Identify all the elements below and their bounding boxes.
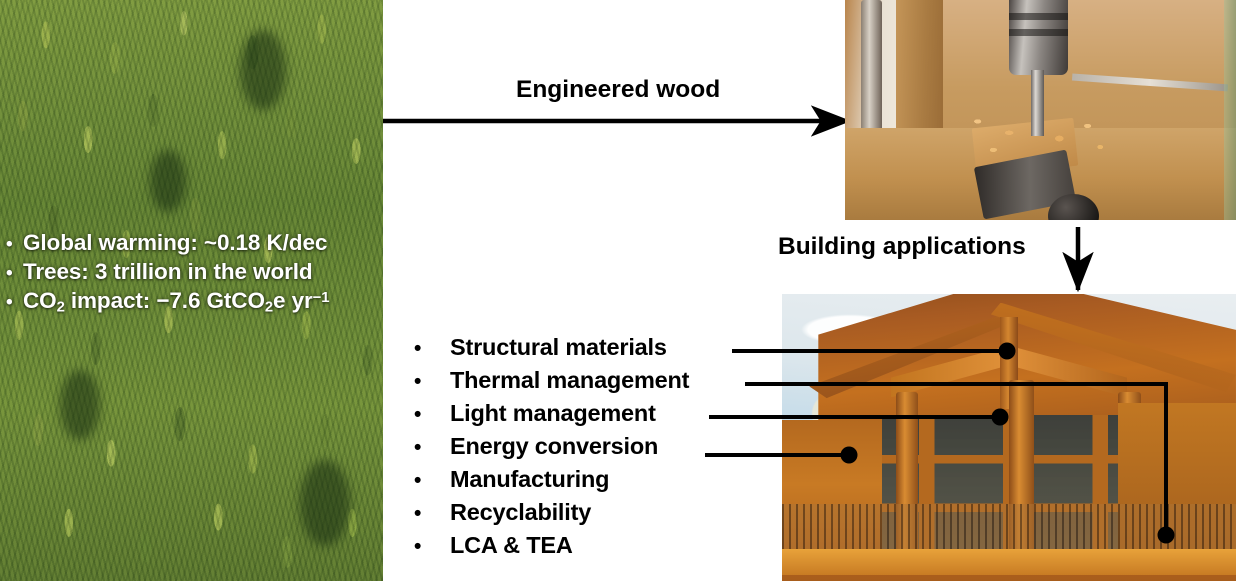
leader-dot-thermal-management: [1158, 527, 1175, 544]
leader-thermal-management: [745, 384, 1166, 535]
figure-canvas: • Global warming: ~0.18 K/dec • Trees: 3…: [0, 0, 1236, 581]
leader-dot-structural-materials: [999, 343, 1016, 360]
leader-dot-energy-conversion: [841, 447, 858, 464]
leader-lines: [0, 0, 1236, 581]
leader-dot-light-management: [992, 409, 1009, 426]
